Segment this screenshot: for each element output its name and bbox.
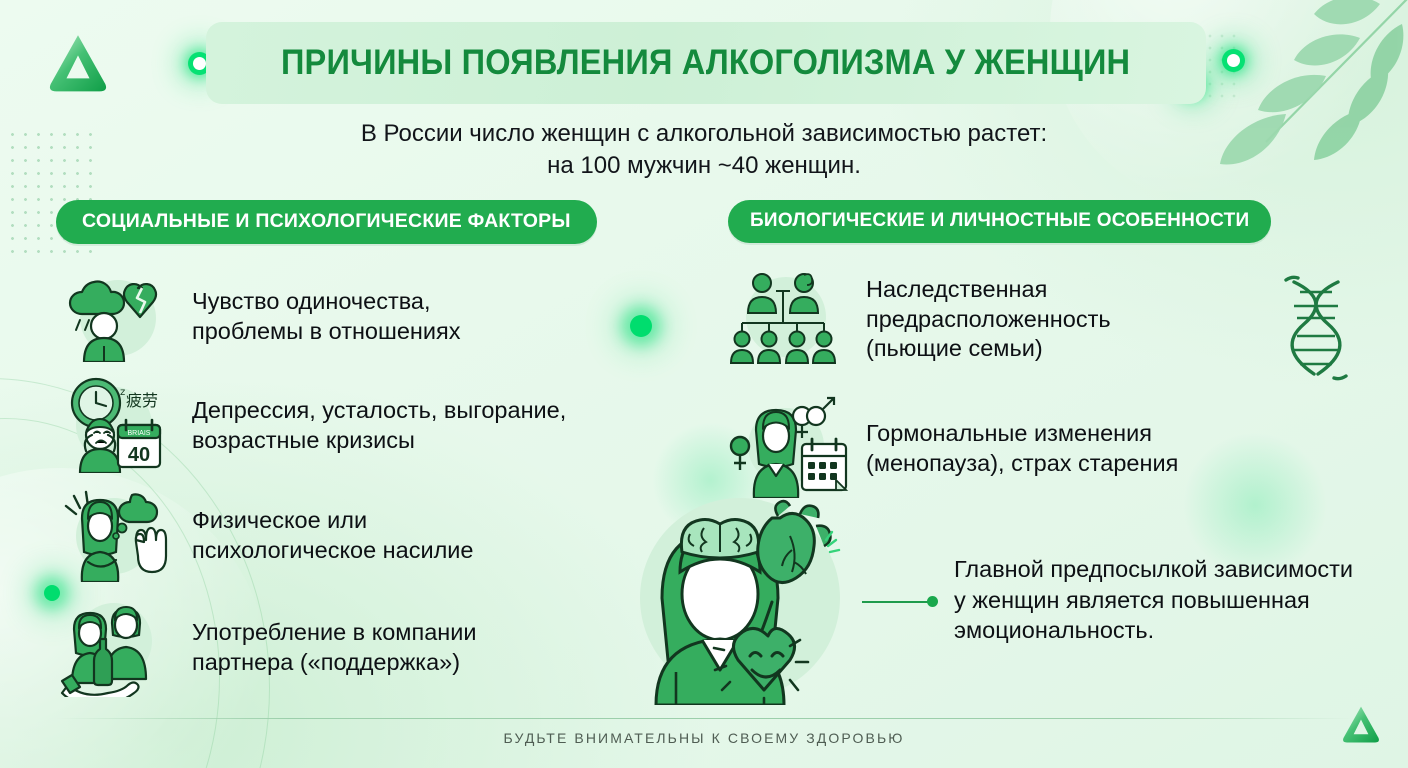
left-items-list: Чувство одиночества, проблемы в отношени… xyxy=(56,266,696,702)
list-item-text: Физическое или психологическое насилие xyxy=(192,506,474,565)
list-item-line: Наследственная xyxy=(866,275,1111,305)
triangle-logo-bottom-right xyxy=(1338,702,1384,748)
infographic-poster: ПРИЧИНЫ ПОЯВЛЕНИЯ АЛКОГОЛИЗМА У ЖЕНЩИН В… xyxy=(0,0,1408,768)
list-item-line: Физическое или xyxy=(192,506,474,536)
list-item-text: Депрессия, усталость, выгорание, возраст… xyxy=(192,396,566,455)
list-item: Гормональные изменения (менопауза), стра… xyxy=(728,394,1368,503)
conclusion-text: Главной предпосылкой зависимости у женщи… xyxy=(954,554,1353,646)
connector-line xyxy=(862,601,928,603)
conclusion-connector xyxy=(862,596,938,607)
right-column-heading: БИОЛОГИЧЕСКИЕ И ЛИЧНОСТНЫЕ ОСОБЕННОСТИ xyxy=(728,200,1271,243)
connector-dot xyxy=(927,596,938,607)
title-banner: ПРИЧИНЫ ПОЯВЛЕНИЯ АЛКОГОЛИЗМА У ЖЕНЩИН xyxy=(206,22,1206,104)
glow-dot-title-left xyxy=(193,57,206,70)
glow-dot-top-right-corner xyxy=(1227,54,1240,67)
list-item-line: предрасположенность xyxy=(866,305,1111,335)
dna-helix-icon xyxy=(1272,274,1360,382)
list-item-line: Чувство одиночества, xyxy=(192,287,461,317)
list-item-line: (менопауза), страх старения xyxy=(866,449,1178,479)
calendar-month-label: BRIAIS xyxy=(128,430,151,437)
list-item-text: Наследственная предрасположенность (пьющ… xyxy=(866,275,1111,364)
subtitle-block: В России число женщин с алкогольной зави… xyxy=(0,118,1408,182)
conclusion-line: эмоциональность. xyxy=(954,615,1353,646)
left-column-heading: СОЦИАЛЬНЫЕ И ПСИХОЛОГИЧЕСКИЕ ФАКТОРЫ xyxy=(56,200,597,244)
clock-tired-woman-calendar-icon: z 疲劳 xyxy=(56,373,176,478)
woman-thought-cloud-stop-hand-icon xyxy=(56,484,176,587)
woman-brain-heart-illustration xyxy=(620,490,876,710)
list-item-line: психологическое насилие xyxy=(192,536,474,566)
woman-gender-symbols-calendar-icon xyxy=(728,394,850,503)
list-item-line: (пьющие семьи) xyxy=(866,334,1111,364)
list-item: Физическое или психологическое насилие xyxy=(56,484,696,587)
subtitle-line-2: на 100 мужчин ~40 женщин. xyxy=(547,152,861,179)
footer-divider xyxy=(56,718,1352,719)
list-item-line: Депрессия, усталость, выгорание, xyxy=(192,396,566,426)
list-item-line: проблемы в отношениях xyxy=(192,317,461,347)
list-item: Чувство одиночества, проблемы в отношени… xyxy=(56,266,696,367)
page-title: ПРИЧИНЫ ПОЯВЛЕНИЯ АЛКОГОЛИЗМА У ЖЕНЩИН xyxy=(281,43,1130,83)
rain-cloud-broken-heart-person-icon xyxy=(56,266,176,367)
family-tree-icon xyxy=(728,265,850,374)
subtitle-line-1: В России число женщин с алкогольной зави… xyxy=(361,120,1047,147)
kanji-label: 疲劳 xyxy=(126,391,158,410)
couple-with-bottle-hand-icon xyxy=(56,593,176,702)
list-item-line: Гормональные изменения xyxy=(866,419,1178,449)
list-item-line: партнера («поддержка») xyxy=(192,648,477,678)
conclusion-line: Главной предпосылкой зависимости xyxy=(954,554,1353,585)
left-column: СОЦИАЛЬНЫЕ И ПСИХОЛОГИЧЕСКИЕ ФАКТОРЫ xyxy=(56,200,696,708)
svg-text:z: z xyxy=(120,387,125,398)
footer-text: БУДЬТЕ ВНИМАТЕЛЬНЫ К СВОЕМУ ЗДОРОВЬЮ xyxy=(0,730,1408,746)
list-item-text: Гормональные изменения (менопауза), стра… xyxy=(866,419,1178,478)
calendar-number-label: 40 xyxy=(128,444,150,466)
list-item-line: возрастные кризисы xyxy=(192,426,566,456)
list-item: z 疲劳 xyxy=(56,373,696,478)
list-item-text: Чувство одиночества, проблемы в отношени… xyxy=(192,287,461,346)
conclusion-line: у женщин является повышенная xyxy=(954,585,1353,616)
list-item-line: Употребление в компании xyxy=(192,618,477,648)
list-item-text: Употребление в компании партнера («подде… xyxy=(192,618,477,677)
list-item: Употребление в компании партнера («подде… xyxy=(56,593,696,702)
triangle-logo-top-left xyxy=(42,28,114,100)
conclusion-block: Главной предпосылкой зависимости у женщи… xyxy=(620,490,1380,710)
